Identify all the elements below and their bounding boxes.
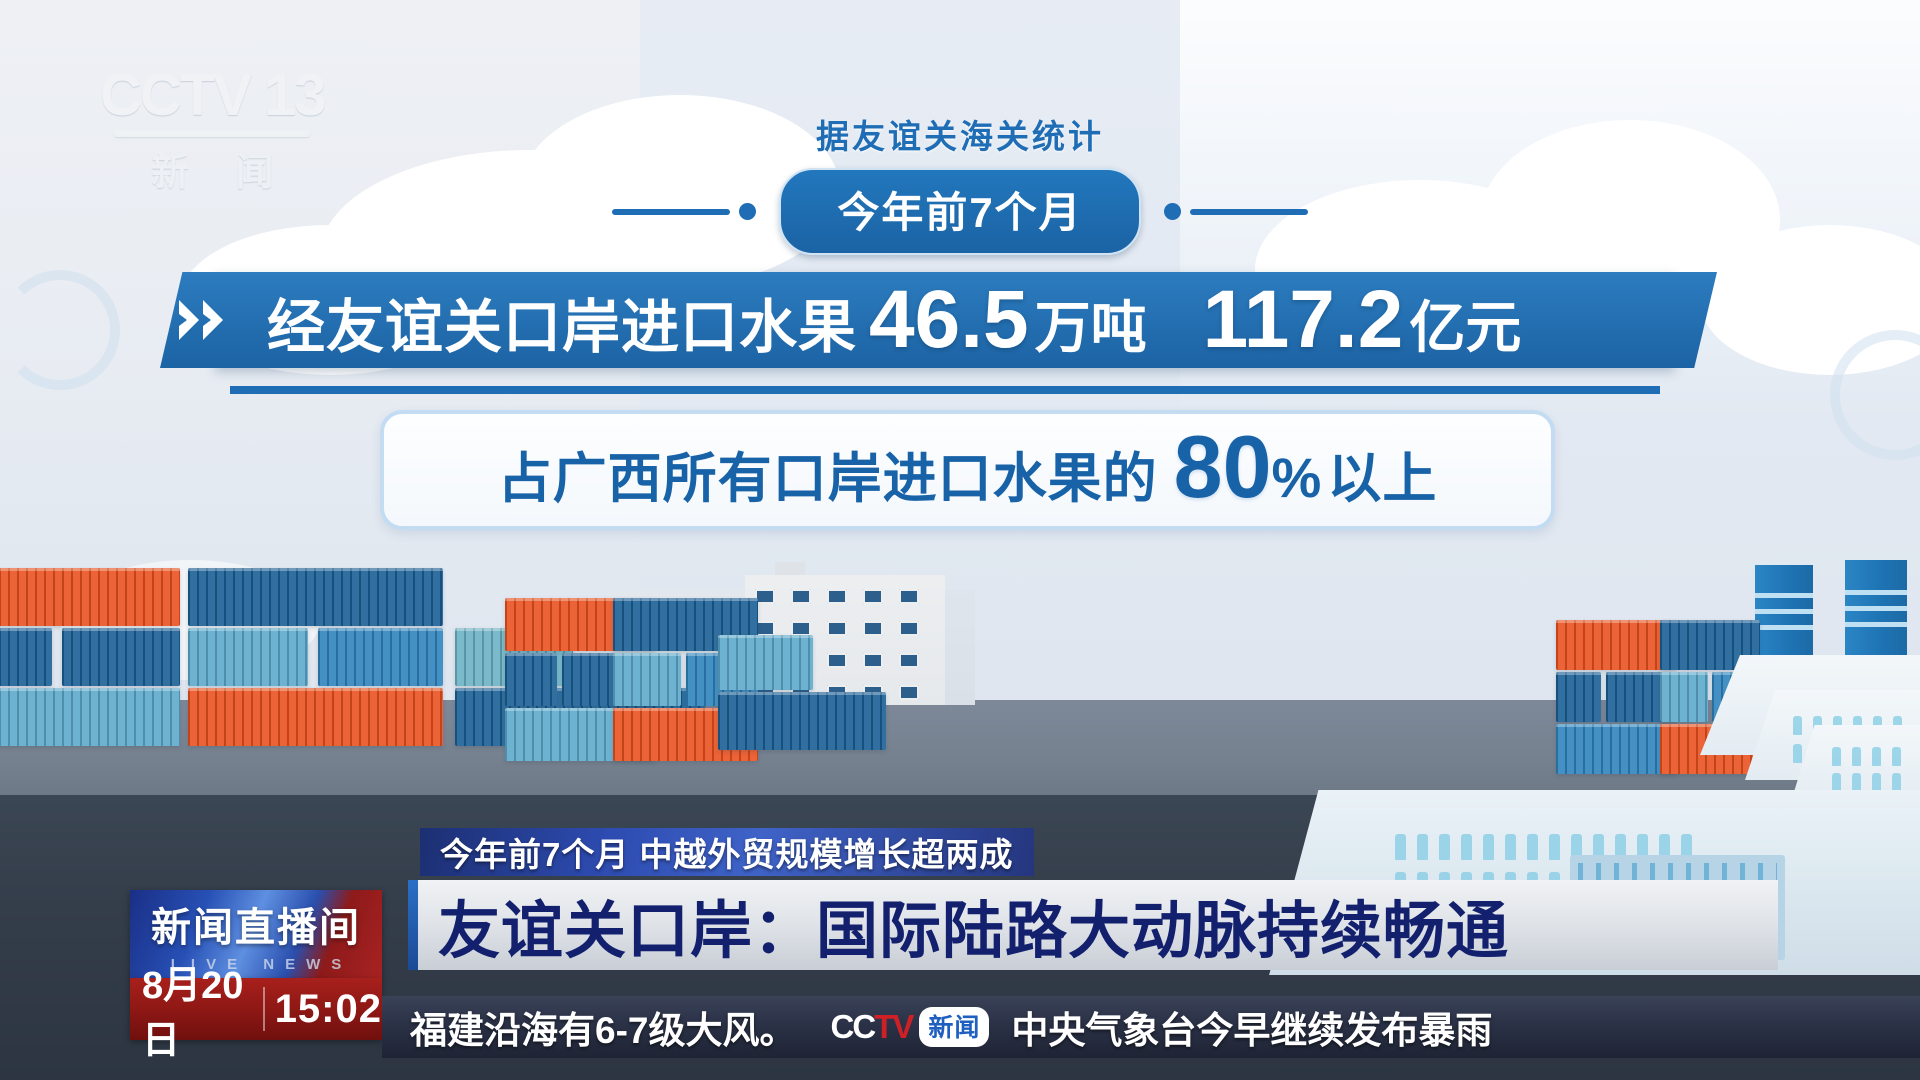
banner-underline xyxy=(230,386,1660,394)
news-ticker: 福建沿海有6-7级大风。 CCTV 新闻 中央气象台今早继续发布暴雨 xyxy=(382,996,1920,1058)
headline-accent-edge xyxy=(408,880,418,970)
clock-bar: 8月20日 15:02 xyxy=(130,978,382,1040)
container-box xyxy=(505,653,557,706)
channel-logo-subtext: 新 闻 xyxy=(100,141,325,196)
connector-right xyxy=(1155,203,1308,220)
warehouse-right xyxy=(943,590,975,705)
subheadline-bar: 今年前7个月 中越外贸规模增长超两成 xyxy=(420,828,1034,876)
cctv-badge-letters: CCTV xyxy=(830,1008,912,1046)
period-pill: 今年前7个月 xyxy=(779,168,1140,255)
program-name-zh: 新闻直播间 xyxy=(151,895,361,953)
container-box xyxy=(188,688,443,746)
card-value: 80 xyxy=(1174,427,1272,506)
clock-date: 8月20日 xyxy=(130,954,253,1064)
container-box xyxy=(1556,672,1601,722)
container-box xyxy=(318,628,443,686)
container-box xyxy=(718,635,813,690)
cctv-badge-zh: 新闻 xyxy=(919,1007,989,1047)
container-box xyxy=(1556,620,1676,670)
stat-banner: 经友谊关口岸进口水果 46.5 万吨 117.2 亿元 xyxy=(215,272,1675,368)
banner-unit-1: 万吨 xyxy=(1035,300,1147,356)
headline-text: 友谊关口岸：国际陆路大动脉持续畅通 xyxy=(408,880,1509,970)
card-lead-text: 占广西所有口岸进口水果的 xyxy=(498,452,1158,506)
container-box xyxy=(0,688,180,746)
double-chevron-icon xyxy=(177,296,233,344)
container-box xyxy=(188,568,443,626)
container-box xyxy=(718,692,886,750)
broadcast-stage: CCTV 13 新 闻 据友谊关海关统计 今年前7个月 经友谊关口岸进口水果 4… xyxy=(0,0,1920,1080)
container-box xyxy=(0,568,180,626)
headline-bar: 友谊关口岸：国际陆路大动脉持续畅通 xyxy=(408,880,1778,970)
ticker-right-text: 中央气象台今早继续发布暴雨 xyxy=(1011,1000,1492,1054)
card-percent-sign: % xyxy=(1272,445,1322,510)
banner-lead-text: 经友谊关口岸进口水果 xyxy=(267,299,857,357)
channel-watermark: CCTV 13 新 闻 xyxy=(100,62,325,196)
stat-card: 占广西所有口岸进口水果的 80 % 以上 xyxy=(380,410,1555,530)
container-box xyxy=(1660,672,1708,722)
container-box xyxy=(0,628,52,686)
decorative-ring xyxy=(0,270,120,390)
container-box xyxy=(62,628,180,686)
banner-unit-2: 亿元 xyxy=(1409,300,1521,356)
card-suffix: 以上 xyxy=(1327,434,1437,513)
cctv-news-badge: CCTV 新闻 xyxy=(830,1007,989,1047)
container-box xyxy=(188,628,308,686)
connector-dot-icon xyxy=(739,203,756,220)
ticker-left-text: 福建沿海有6-7级大风。 xyxy=(382,1000,796,1054)
container-box xyxy=(1556,724,1676,774)
clock-divider xyxy=(263,987,265,1031)
banner-value-2: 117.2 xyxy=(1203,282,1404,357)
banner-value-1: 46.5 xyxy=(869,282,1029,357)
channel-logo-text: CCTV 13 xyxy=(100,62,325,129)
clock-time: 15:02 xyxy=(275,987,382,1032)
container-box xyxy=(613,653,681,706)
connector-dot-icon xyxy=(1164,203,1181,220)
subheadline-text: 今年前7个月 中越外贸规模增长超两成 xyxy=(440,828,1014,876)
connector-bar xyxy=(1190,209,1308,215)
stat-banner-content: 经友谊关口岸进口水果 46.5 万吨 117.2 亿元 xyxy=(215,282,1521,357)
stat-card-content: 占广西所有口岸进口水果的 80 % 以上 xyxy=(498,427,1438,513)
channel-logo-divider xyxy=(114,131,310,137)
connector-left xyxy=(612,203,765,220)
connector-bar xyxy=(612,209,730,215)
